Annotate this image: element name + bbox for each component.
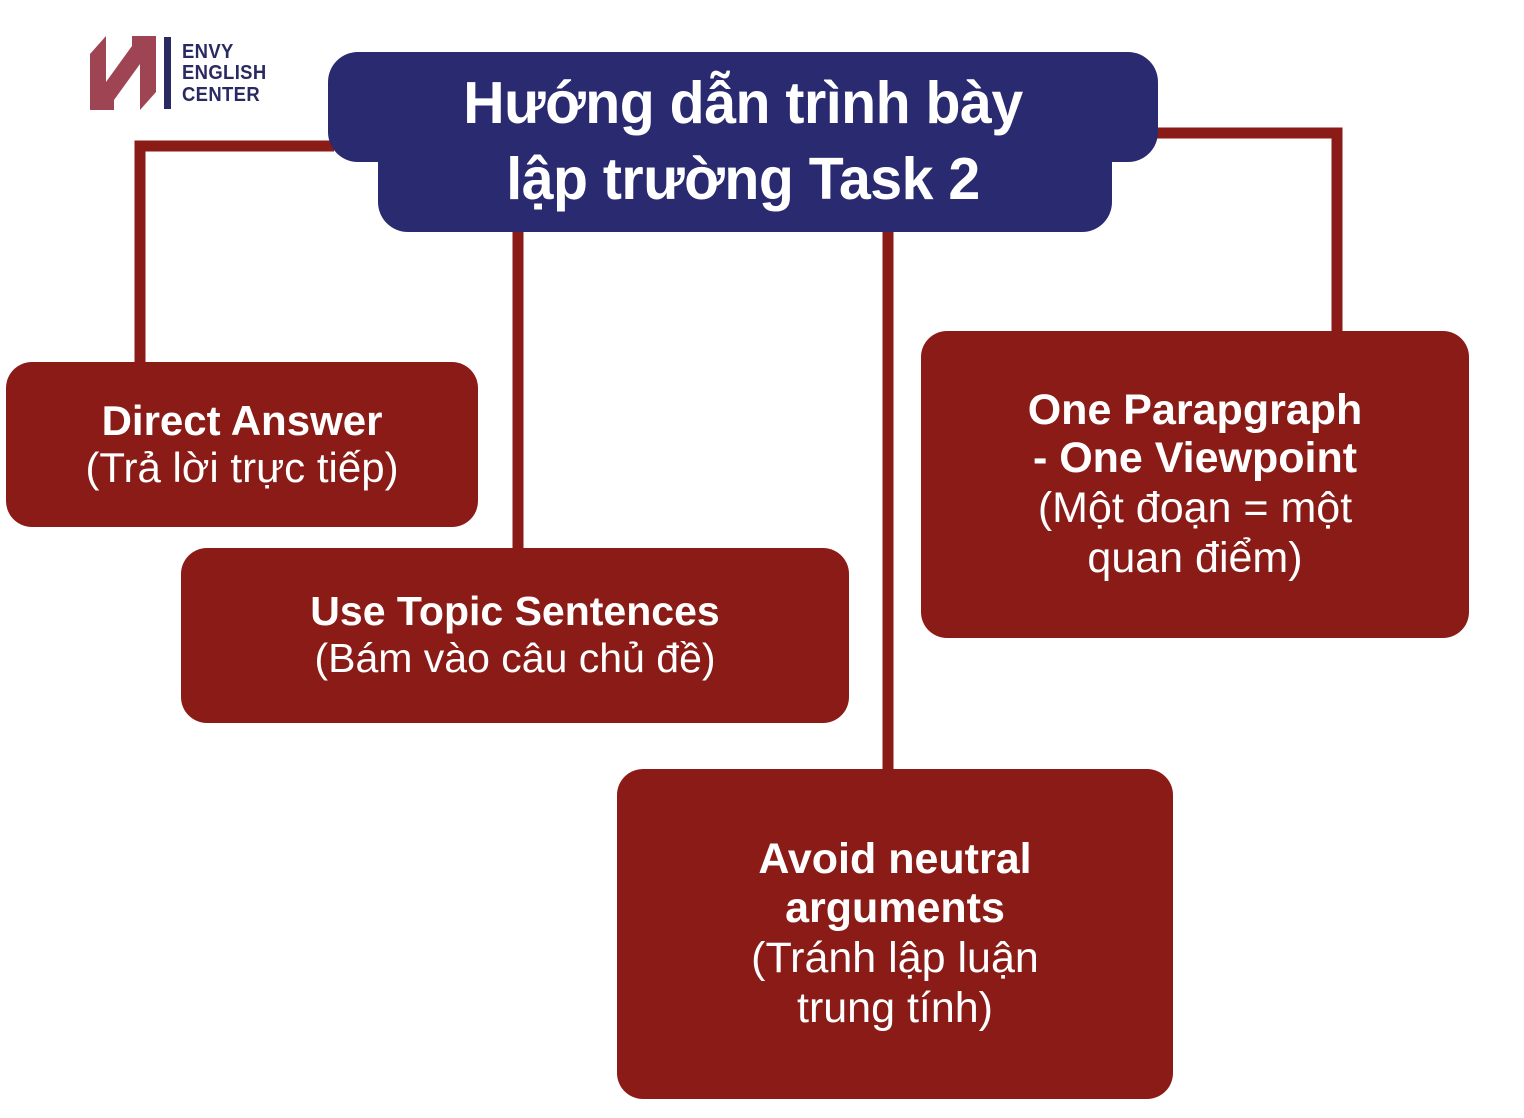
node-one-paragraph-one-viewpoint-heading-line-2: - One Viewpoint xyxy=(1033,434,1357,483)
node-one-paragraph-one-viewpoint-heading-line-1: One Parapgraph xyxy=(1028,386,1363,435)
node-avoid-neutral-arguments-subtitle-line-2: trung tính) xyxy=(797,983,993,1033)
node-avoid-neutral-arguments-heading-line-2: arguments xyxy=(785,884,1005,933)
logo-line-1: ENVY xyxy=(182,41,267,62)
node-one-paragraph-one-viewpoint: One Parapgraph - One Viewpoint (Một đoạn… xyxy=(921,331,1469,638)
logo-n-mark-icon xyxy=(86,32,160,114)
brand-logo: ENVY ENGLISH CENTER xyxy=(86,24,286,122)
node-one-paragraph-one-viewpoint-subtitle-line-2: quan điểm) xyxy=(1087,533,1302,583)
node-use-topic-sentences-heading: Use Topic Sentences xyxy=(310,589,719,635)
connector-title-to-one-paragraph-one-viewpoint xyxy=(1150,133,1337,342)
node-direct-answer-heading: Direct Answer xyxy=(102,398,383,444)
diagram-canvas: ENVY ENGLISH CENTER Hướng dẫn trình bày … xyxy=(0,0,1524,1118)
diagram-title-node: Hướng dẫn trình bày lập trường Task 2 xyxy=(328,52,1158,232)
node-use-topic-sentences: Use Topic Sentences (Bám vào câu chủ đề) xyxy=(181,548,849,723)
logo-line-3: CENTER xyxy=(182,84,267,105)
page-title: Hướng dẫn trình bày lập trường Task 2 xyxy=(340,66,1145,217)
node-avoid-neutral-arguments-subtitle-line-1: (Tránh lập luận xyxy=(751,933,1039,983)
node-use-topic-sentences-subtitle: (Bám vào câu chủ đề) xyxy=(314,635,715,682)
node-one-paragraph-one-viewpoint-subtitle-line-1: (Một đoạn = một xyxy=(1038,483,1352,533)
node-avoid-neutral-arguments-heading-line-1: Avoid neutral xyxy=(758,835,1031,884)
title-line-2: lập trường Task 2 xyxy=(340,142,1145,218)
logo-line-2: ENGLISH xyxy=(182,62,267,83)
node-avoid-neutral-arguments: Avoid neutral arguments (Tránh lập luận … xyxy=(617,769,1173,1099)
node-direct-answer: Direct Answer (Trả lời trực tiếp) xyxy=(6,362,478,527)
logo-divider xyxy=(164,37,171,109)
connector-title-to-direct-answer xyxy=(140,146,334,372)
logo-wordmark: ENVY ENGLISH CENTER xyxy=(182,41,267,104)
title-line-1: Hướng dẫn trình bày xyxy=(340,66,1145,142)
node-direct-answer-subtitle: (Trả lời trực tiếp) xyxy=(85,444,398,491)
